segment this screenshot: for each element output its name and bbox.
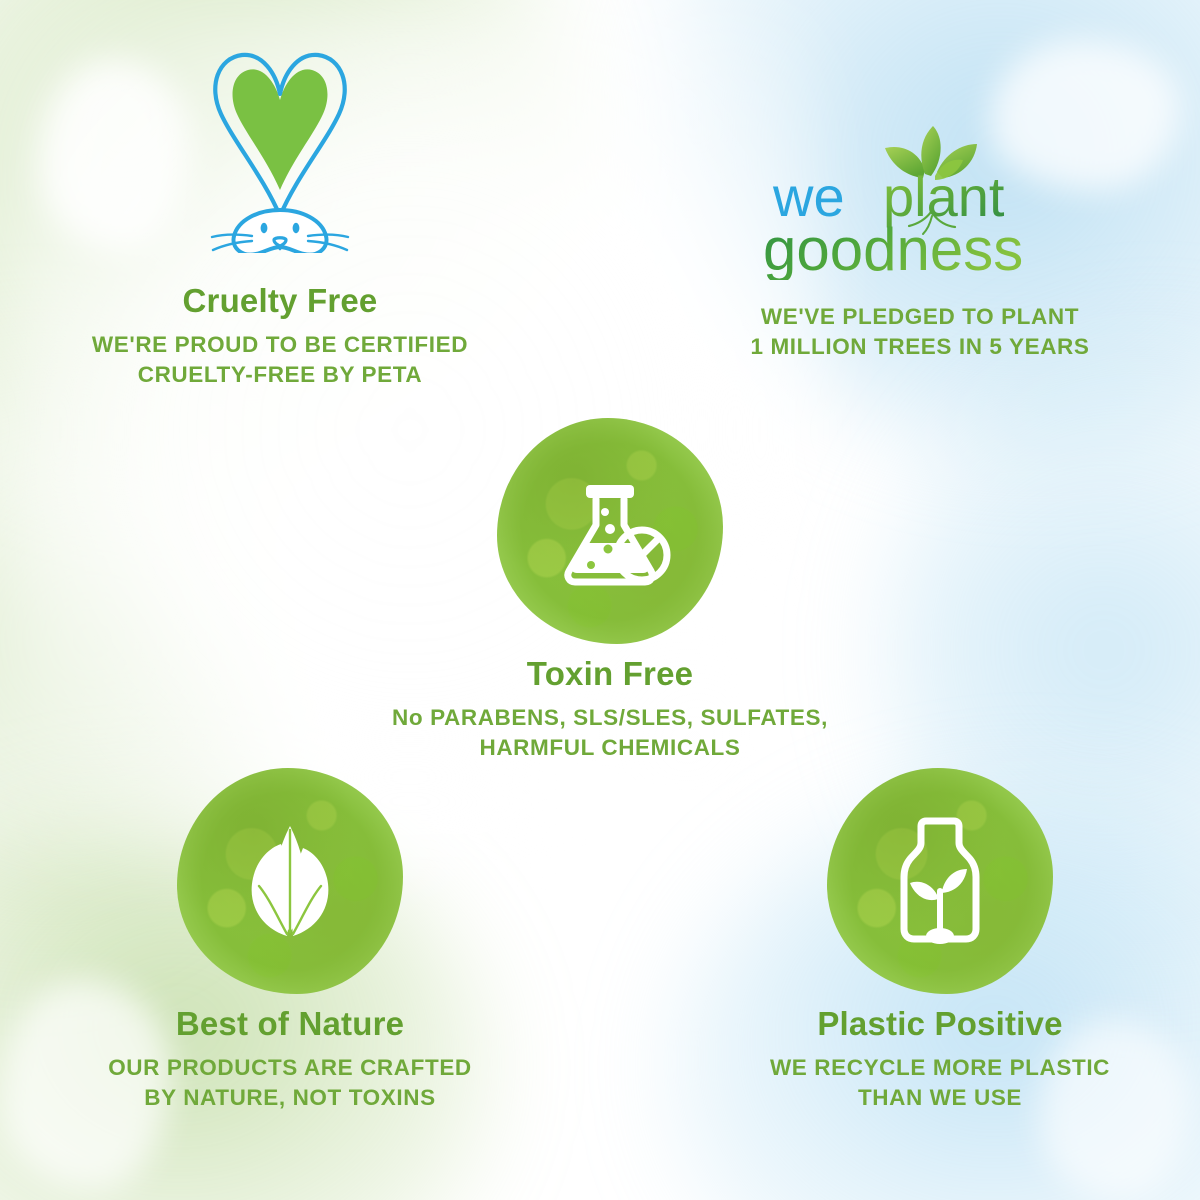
badge-plant-goodness: we plant goodness WE'VE PLEDGED TO PLANT… — [660, 120, 1180, 362]
badge-desc-line: 1 MILLION TREES IN 5 YEARS — [660, 332, 1180, 362]
icon-disc-best-of-nature — [177, 768, 403, 994]
infographic-canvas: Cruelty Free WE'RE PROUD TO BE CERTIFIED… — [0, 0, 1200, 1200]
badge-desc-line: HARMFUL CHEMICALS — [350, 733, 870, 763]
flask-no-entry-icon — [497, 418, 723, 644]
we-plant-goodness-logo: we plant goodness — [755, 120, 1085, 280]
peta-bunny-heart-logo — [180, 38, 380, 253]
badge-desc-line: WE'VE PLEDGED TO PLANT — [660, 302, 1180, 332]
badge-desc-line: THAN WE USE — [680, 1083, 1200, 1113]
badge-desc-line: No PARABENS, SLS/SLES, SULFATES, — [350, 703, 870, 733]
badge-desc-best-of-nature: OUR PRODUCTS ARE CRAFTED BY NATURE, NOT … — [30, 1053, 550, 1113]
badge-desc-line: WE'RE PROUD TO BE CERTIFIED — [20, 330, 540, 360]
badge-desc-plastic-positive: WE RECYCLE MORE PLASTIC THAN WE USE — [680, 1053, 1200, 1113]
logo-word-goodness: goodness — [763, 216, 1023, 280]
badge-title-cruelty-free: Cruelty Free — [20, 283, 540, 319]
badge-best-of-nature: Best of Nature OUR PRODUCTS ARE CRAFTED … — [30, 768, 550, 1113]
badge-desc-line: OUR PRODUCTS ARE CRAFTED — [30, 1053, 550, 1083]
badge-title-best-of-nature: Best of Nature — [30, 1006, 550, 1042]
badge-desc-toxin-free: No PARABENS, SLS/SLES, SULFATES, HARMFUL… — [350, 703, 870, 763]
icon-disc-plastic-positive — [827, 768, 1053, 994]
badge-cruelty-free: Cruelty Free WE'RE PROUD TO BE CERTIFIED… — [20, 38, 540, 390]
badge-desc-cruelty-free: WE'RE PROUD TO BE CERTIFIED CRUELTY-FREE… — [20, 330, 540, 390]
badge-title-plastic-positive: Plastic Positive — [680, 1006, 1200, 1042]
badge-toxin-free: Toxin Free No PARABENS, SLS/SLES, SULFAT… — [350, 418, 870, 763]
bottle-seedling-icon — [827, 768, 1053, 994]
badge-desc-line: CRUELTY-FREE BY PETA — [20, 360, 540, 390]
badge-desc-line: WE RECYCLE MORE PLASTIC — [680, 1053, 1200, 1083]
badge-desc-plant-goodness: WE'VE PLEDGED TO PLANT 1 MILLION TREES I… — [660, 302, 1180, 362]
badge-plastic-positive: Plastic Positive WE RECYCLE MORE PLASTIC… — [680, 768, 1200, 1113]
badge-desc-line: BY NATURE, NOT TOXINS — [30, 1083, 550, 1113]
icon-disc-toxin-free — [497, 418, 723, 644]
three-leaves-icon — [177, 768, 403, 994]
badge-title-toxin-free: Toxin Free — [350, 656, 870, 692]
